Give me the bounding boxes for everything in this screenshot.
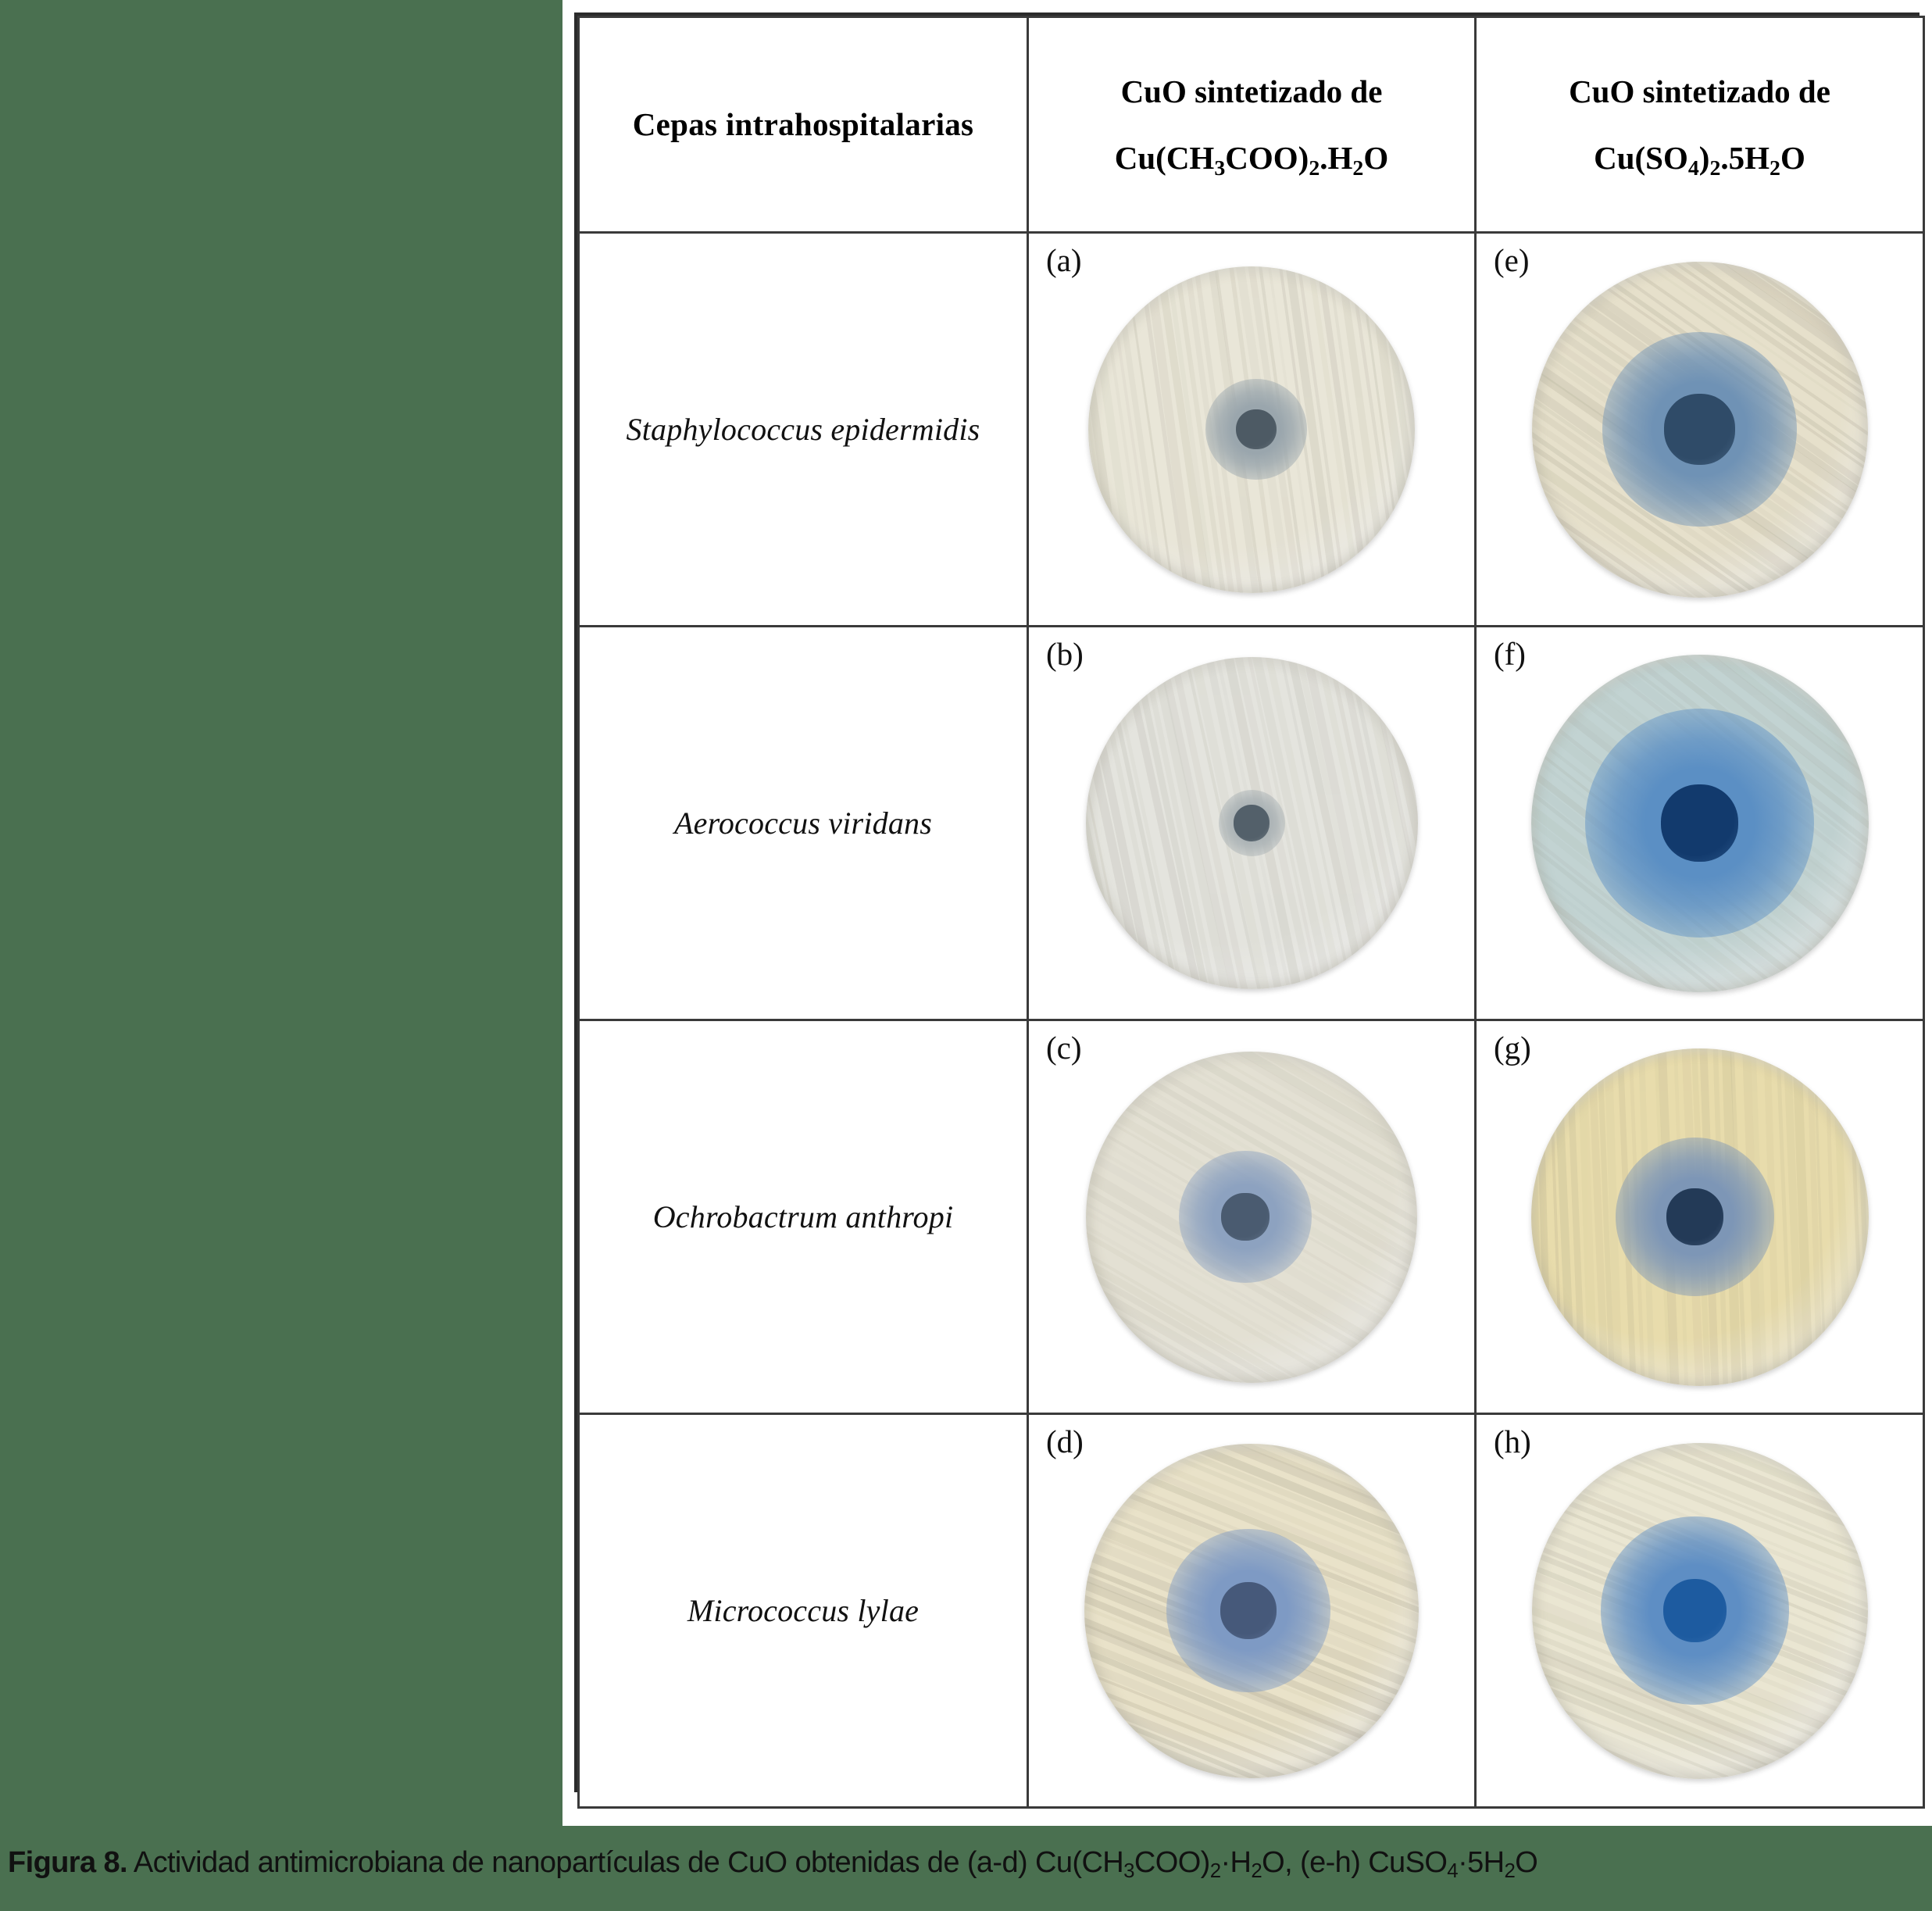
dish-container <box>1477 1021 1923 1413</box>
table-row: Ochrobactrum anthropi(c) (g) <box>579 1020 1924 1414</box>
table-row: Staphylococcus epidermidis(a) (e) <box>579 233 1924 627</box>
nanoparticle-core <box>1663 1579 1727 1643</box>
nanoparticle-core <box>1236 409 1277 450</box>
nanoparticle-core <box>1220 1582 1277 1639</box>
plate-cell-a: (a) <box>1028 233 1476 627</box>
strain-name-cell: Ochrobactrum anthropi <box>579 1020 1028 1414</box>
dish-container <box>1477 627 1923 1019</box>
plate-cell-e: (e) <box>1476 233 1924 627</box>
dish-container <box>1029 627 1474 1019</box>
petri-dish <box>1532 1443 1868 1779</box>
header-sulfate-line1: CuO sintetizado de <box>1477 59 1923 124</box>
dish-container <box>1029 234 1474 625</box>
petri-dish <box>1531 1048 1869 1386</box>
nanoparticle-core <box>1664 394 1734 464</box>
petri-dish <box>1532 262 1868 598</box>
strain-name-cell: Aerococcus viridans <box>579 627 1028 1020</box>
plate-cell-c: (c) <box>1028 1020 1476 1414</box>
petri-dish <box>1086 1052 1417 1383</box>
nanoparticle-core <box>1221 1193 1269 1241</box>
nanoparticle-core <box>1666 1188 1723 1245</box>
header-sulfate-formula: Cu(SO4)2.5H2O <box>1477 125 1923 191</box>
table-header-row: Cepas intrahospitalarias CuO sintetizado… <box>579 17 1924 233</box>
petri-dish <box>1088 266 1415 593</box>
table-body: Staphylococcus epidermidis(a) (e) Aeroco… <box>579 233 1924 1808</box>
petri-dish <box>1531 655 1869 992</box>
strain-name-cell: Staphylococcus epidermidis <box>579 233 1028 627</box>
header-acetate-line1: CuO sintetizado de <box>1029 59 1474 124</box>
nanoparticle-core <box>1234 805 1270 841</box>
dish-container <box>1029 1415 1474 1806</box>
caption-label: Figura 8. <box>8 1846 127 1879</box>
caption-band: Figura 8. Actividad antimicrobiana de na… <box>0 1826 1932 1911</box>
header-strain-line2: intrahospitalarias <box>726 106 973 142</box>
nanoparticle-core <box>1661 784 1738 862</box>
header-sulfate: CuO sintetizado de Cu(SO4)2.5H2O <box>1476 17 1924 233</box>
header-strain-line1: Cepas <box>633 106 718 142</box>
plate-cell-g: (g) <box>1476 1020 1924 1414</box>
plate-cell-d: (d) <box>1028 1414 1476 1808</box>
dish-container <box>1477 234 1923 625</box>
table-row: Aerococcus viridans(b) (f) <box>579 627 1924 1020</box>
figure-caption: Figura 8. Actividad antimicrobiana de na… <box>8 1846 1922 1883</box>
table-row: Micrococcus lylae(d) (h) <box>579 1414 1924 1808</box>
dish-container <box>1029 1021 1474 1413</box>
header-acetate: CuO sintetizado de Cu(CH3COO)2.H2O <box>1028 17 1476 233</box>
plate-cell-h: (h) <box>1476 1414 1924 1808</box>
strain-name-cell: Micrococcus lylae <box>579 1414 1028 1808</box>
petri-dish <box>1086 657 1418 989</box>
header-strain: Cepas intrahospitalarias <box>579 17 1028 233</box>
petri-dish <box>1084 1444 1419 1778</box>
caption-text: Actividad antimicrobiana de nanopartícul… <box>127 1846 1537 1879</box>
header-acetate-formula: Cu(CH3COO)2.H2O <box>1029 125 1474 191</box>
plate-cell-b: (b) <box>1028 627 1476 1020</box>
dish-container <box>1477 1415 1923 1806</box>
figure-table: Cepas intrahospitalarias CuO sintetizado… <box>574 13 1920 1792</box>
plate-cell-f: (f) <box>1476 627 1924 1020</box>
